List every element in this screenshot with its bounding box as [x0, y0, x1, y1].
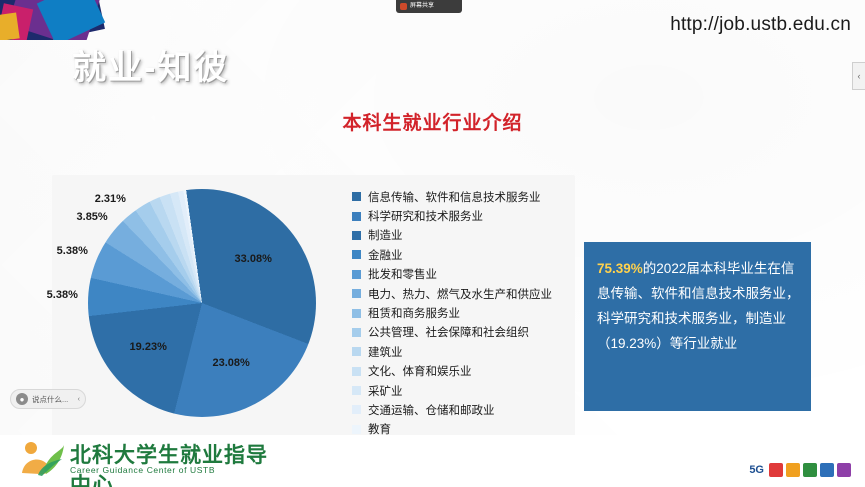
legend-swatch-icon	[352, 212, 361, 221]
pie-slice-value: 23.08%	[212, 357, 249, 369]
legend-swatch-icon	[352, 405, 361, 414]
mic-icon: ●	[16, 393, 28, 405]
pie-chart: 33.08%23.08%19.23%5.38%5.38%3.85%2.31%	[88, 189, 328, 429]
legend-swatch-icon	[352, 367, 361, 376]
brand-square-4-icon	[820, 463, 834, 477]
legend-item: 文化、体育和娱乐业	[352, 362, 567, 381]
legend-label: 信息传输、软件和信息技术服务业	[368, 189, 541, 205]
legend-label: 电力、热力、燃气及水生产和供应业	[368, 286, 552, 302]
brand-square-3-icon	[803, 463, 817, 477]
legend-swatch-icon	[352, 289, 361, 298]
legend-label: 公共管理、社会保障和社会组织	[368, 324, 529, 340]
legend-swatch-icon	[352, 425, 361, 434]
legend-label: 科学研究和技术服务业	[368, 208, 483, 224]
legend-item: 科学研究和技术服务业	[352, 206, 567, 225]
legend-swatch-icon	[352, 328, 361, 337]
brand-square-2-icon	[786, 463, 800, 477]
partner-brand-strip: 5G	[749, 463, 851, 477]
footer-bar: 北科大学生就业指导中心 Career Guidance Center of US…	[0, 435, 865, 487]
legend-item: 租赁和商务服务业	[352, 303, 567, 322]
legend-label: 金融业	[368, 247, 403, 263]
pie-slice-value: 5.38%	[57, 245, 88, 257]
legend-label: 建筑业	[368, 344, 403, 360]
pie-slice-value: 5.38%	[47, 289, 78, 301]
brand-text: 5G	[749, 464, 764, 476]
legend-item: 制造业	[352, 226, 567, 245]
callout-highlight: 75.39%	[597, 261, 643, 276]
legend-item: 建筑业	[352, 342, 567, 361]
legend-swatch-icon	[352, 309, 361, 318]
page-title: 就业-知彼	[72, 40, 229, 89]
recording-dot-icon	[400, 3, 407, 10]
legend-item: 交通运输、仓储和邮政业	[352, 400, 567, 419]
voice-input-chip[interactable]: ● 说点什么... ‹	[10, 389, 86, 409]
legend-item: 采矿业	[352, 381, 567, 400]
legend-label: 制造业	[368, 227, 403, 243]
legend-swatch-icon	[352, 347, 361, 356]
legend-label: 采矿业	[368, 383, 403, 399]
pie-slice-value: 2.31%	[95, 193, 126, 205]
brand-square-5-icon	[837, 463, 851, 477]
legend-swatch-icon	[352, 231, 361, 240]
pie-slice-value: 33.08%	[235, 253, 272, 265]
chart-card: 33.08%23.08%19.23%5.38%5.38%3.85%2.31% 信…	[52, 175, 575, 440]
pie-slice-value: 3.85%	[77, 211, 108, 223]
screen-share-indicator[interactable]: 屏幕共享	[396, 0, 462, 13]
legend-item: 电力、热力、燃气及水生产和供应业	[352, 284, 567, 303]
legend-item: 信息传输、软件和信息技术服务业	[352, 187, 567, 206]
legend-swatch-icon	[352, 250, 361, 259]
legend-item: 金融业	[352, 245, 567, 264]
callout-text: 75.39%的2022届本科毕业生在信息传输、软件和信息技术服务业，科学研究和技…	[597, 256, 800, 356]
voice-input-label: 说点什么...	[32, 394, 68, 405]
chevron-left-icon: ‹	[78, 396, 80, 403]
chart-title: 本科生就业行业介绍	[0, 108, 865, 135]
legend-item: 公共管理、社会保障和社会组织	[352, 323, 567, 342]
screen-share-label: 屏幕共享	[410, 3, 434, 10]
site-url: http://job.ustb.edu.cn	[670, 14, 851, 36]
legend-item: 批发和零售业	[352, 265, 567, 284]
logo-text-cn: 北科大学生就业指导中心	[70, 439, 268, 487]
legend-label: 文化、体育和娱乐业	[368, 363, 472, 379]
decorative-corner-graphic	[0, 0, 115, 40]
pie-slice-value: 19.23%	[130, 341, 167, 353]
slide-root: 屏幕共享 http://job.ustb.edu.cn 就业-知彼 本科生就业行…	[0, 0, 865, 487]
organization-logo: 北科大学生就业指导中心 Career Guidance Center of US…	[18, 437, 268, 483]
legend-swatch-icon	[352, 270, 361, 279]
brand-square-1-icon	[769, 463, 783, 477]
chart-legend: 信息传输、软件和信息技术服务业科学研究和技术服务业制造业金融业批发和零售业电力、…	[352, 187, 567, 439]
legend-label: 租赁和商务服务业	[368, 305, 460, 321]
logo-text-en: Career Guidance Center of USTB	[70, 465, 215, 475]
panel-collapse-button[interactable]: ‹	[852, 62, 865, 90]
pie-slices	[88, 189, 316, 417]
legend-label: 批发和零售业	[368, 266, 437, 282]
legend-swatch-icon	[352, 386, 361, 395]
logo-mark-icon	[18, 439, 66, 479]
summary-callout: 75.39%的2022届本科毕业生在信息传输、软件和信息技术服务业，科学研究和技…	[584, 242, 811, 411]
legend-label: 交通运输、仓储和邮政业	[368, 402, 495, 418]
legend-swatch-icon	[352, 192, 361, 201]
